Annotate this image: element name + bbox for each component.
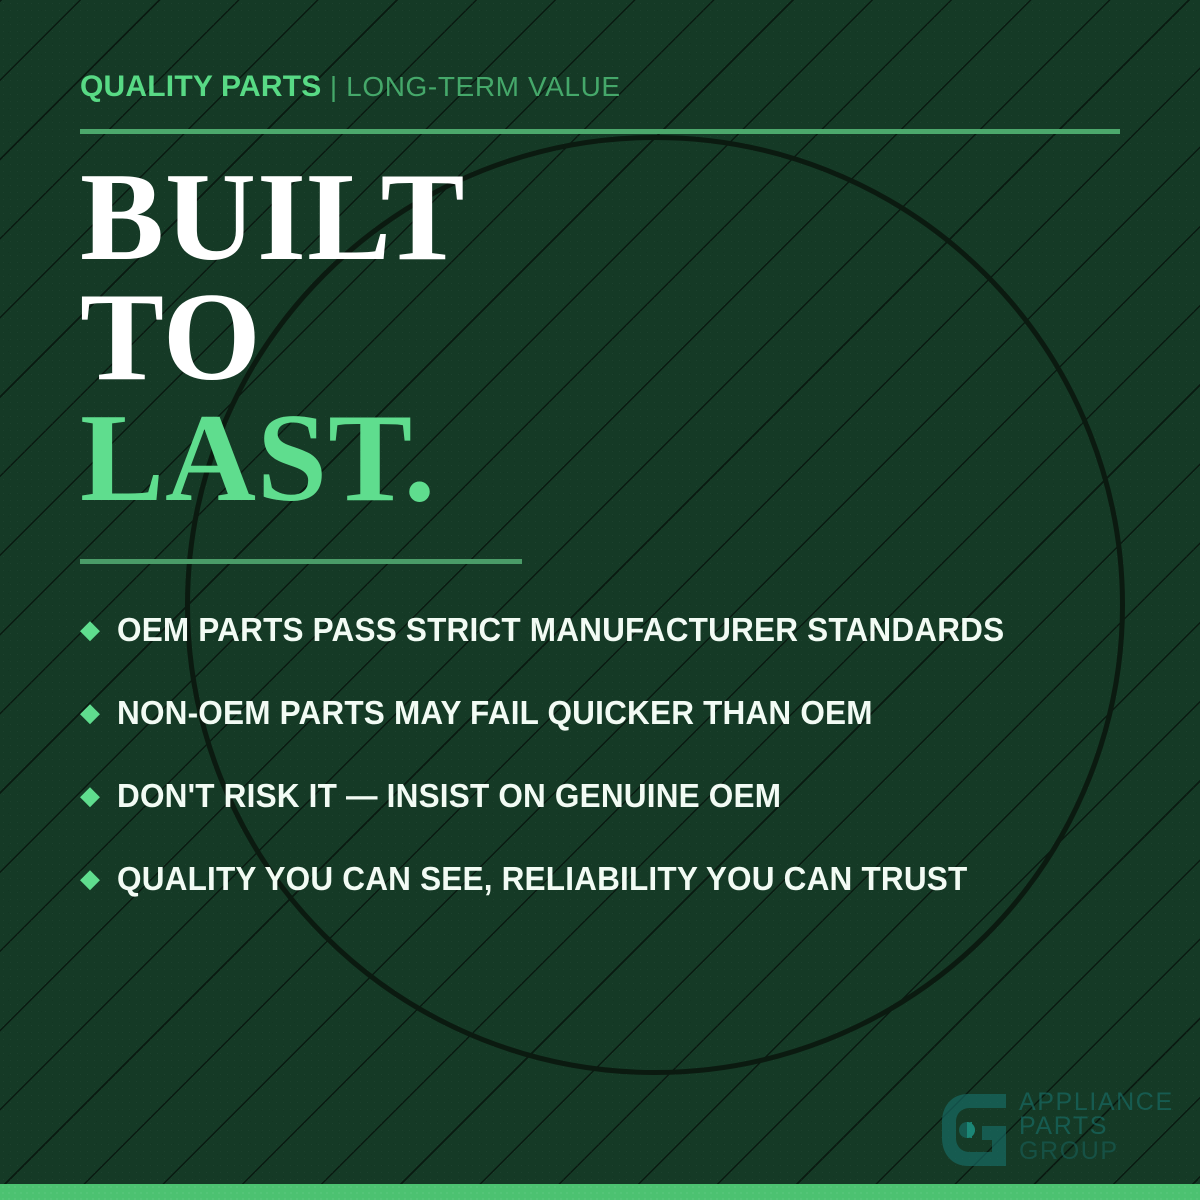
page-title: BUILT TO LAST. xyxy=(80,158,466,519)
diamond-bullet-icon: ◆ xyxy=(80,616,100,642)
brand-line-3: GROUP xyxy=(1019,1139,1174,1163)
headline-divider-rule xyxy=(80,559,522,564)
list-item: ◆ DON'T RISK IT — INSIST ON GENUINE OEM xyxy=(80,754,1160,837)
g-monogram-icon xyxy=(938,1088,1010,1172)
diamond-bullet-icon: ◆ xyxy=(80,782,100,808)
headline-line-1: BUILT xyxy=(80,158,466,278)
kicker-light-label: LONG-TERM VALUE xyxy=(346,71,621,102)
kicker-line: QUALITY PARTS | LONG-TERM VALUE xyxy=(80,72,621,102)
brand-line-1: APPLIANCE xyxy=(1019,1090,1174,1114)
list-item: ◆ OEM PARTS PASS STRICT MANUFACTURER STA… xyxy=(80,588,1160,671)
list-item-label: OEM PARTS PASS STRICT MANUFACTURER STAND… xyxy=(117,611,1004,649)
headline-line-3: LAST. xyxy=(80,399,466,519)
list-item-label: QUALITY YOU CAN SEE, RELIABILITY YOU CAN… xyxy=(117,860,967,898)
poster-canvas: QUALITY PARTS | LONG-TERM VALUE BUILT TO… xyxy=(0,0,1200,1200)
brand-line-2: PARTS xyxy=(1019,1114,1174,1138)
kicker-strong-label: QUALITY PARTS xyxy=(80,70,322,103)
benefit-list: ◆ OEM PARTS PASS STRICT MANUFACTURER STA… xyxy=(80,588,1160,920)
header-divider-rule xyxy=(80,129,1120,134)
diamond-bullet-icon: ◆ xyxy=(80,865,100,891)
bottom-bar-texture xyxy=(0,1184,1200,1200)
headline-line-2: TO xyxy=(80,278,466,398)
bottom-accent-bar xyxy=(0,1184,1200,1200)
diamond-bullet-icon: ◆ xyxy=(80,699,100,725)
list-item: ◆ QUALITY YOU CAN SEE, RELIABILITY YOU C… xyxy=(80,837,1160,920)
brand-logo: APPLIANCE PARTS GROUP xyxy=(938,1088,1174,1172)
kicker-separator: | xyxy=(330,71,338,102)
brand-wordmark: APPLIANCE PARTS GROUP xyxy=(1019,1088,1174,1163)
list-item: ◆ NON-OEM PARTS MAY FAIL QUICKER THAN OE… xyxy=(80,671,1160,754)
list-item-label: DON'T RISK IT — INSIST ON GENUINE OEM xyxy=(117,777,781,815)
list-item-label: NON-OEM PARTS MAY FAIL QUICKER THAN OEM xyxy=(117,694,873,732)
